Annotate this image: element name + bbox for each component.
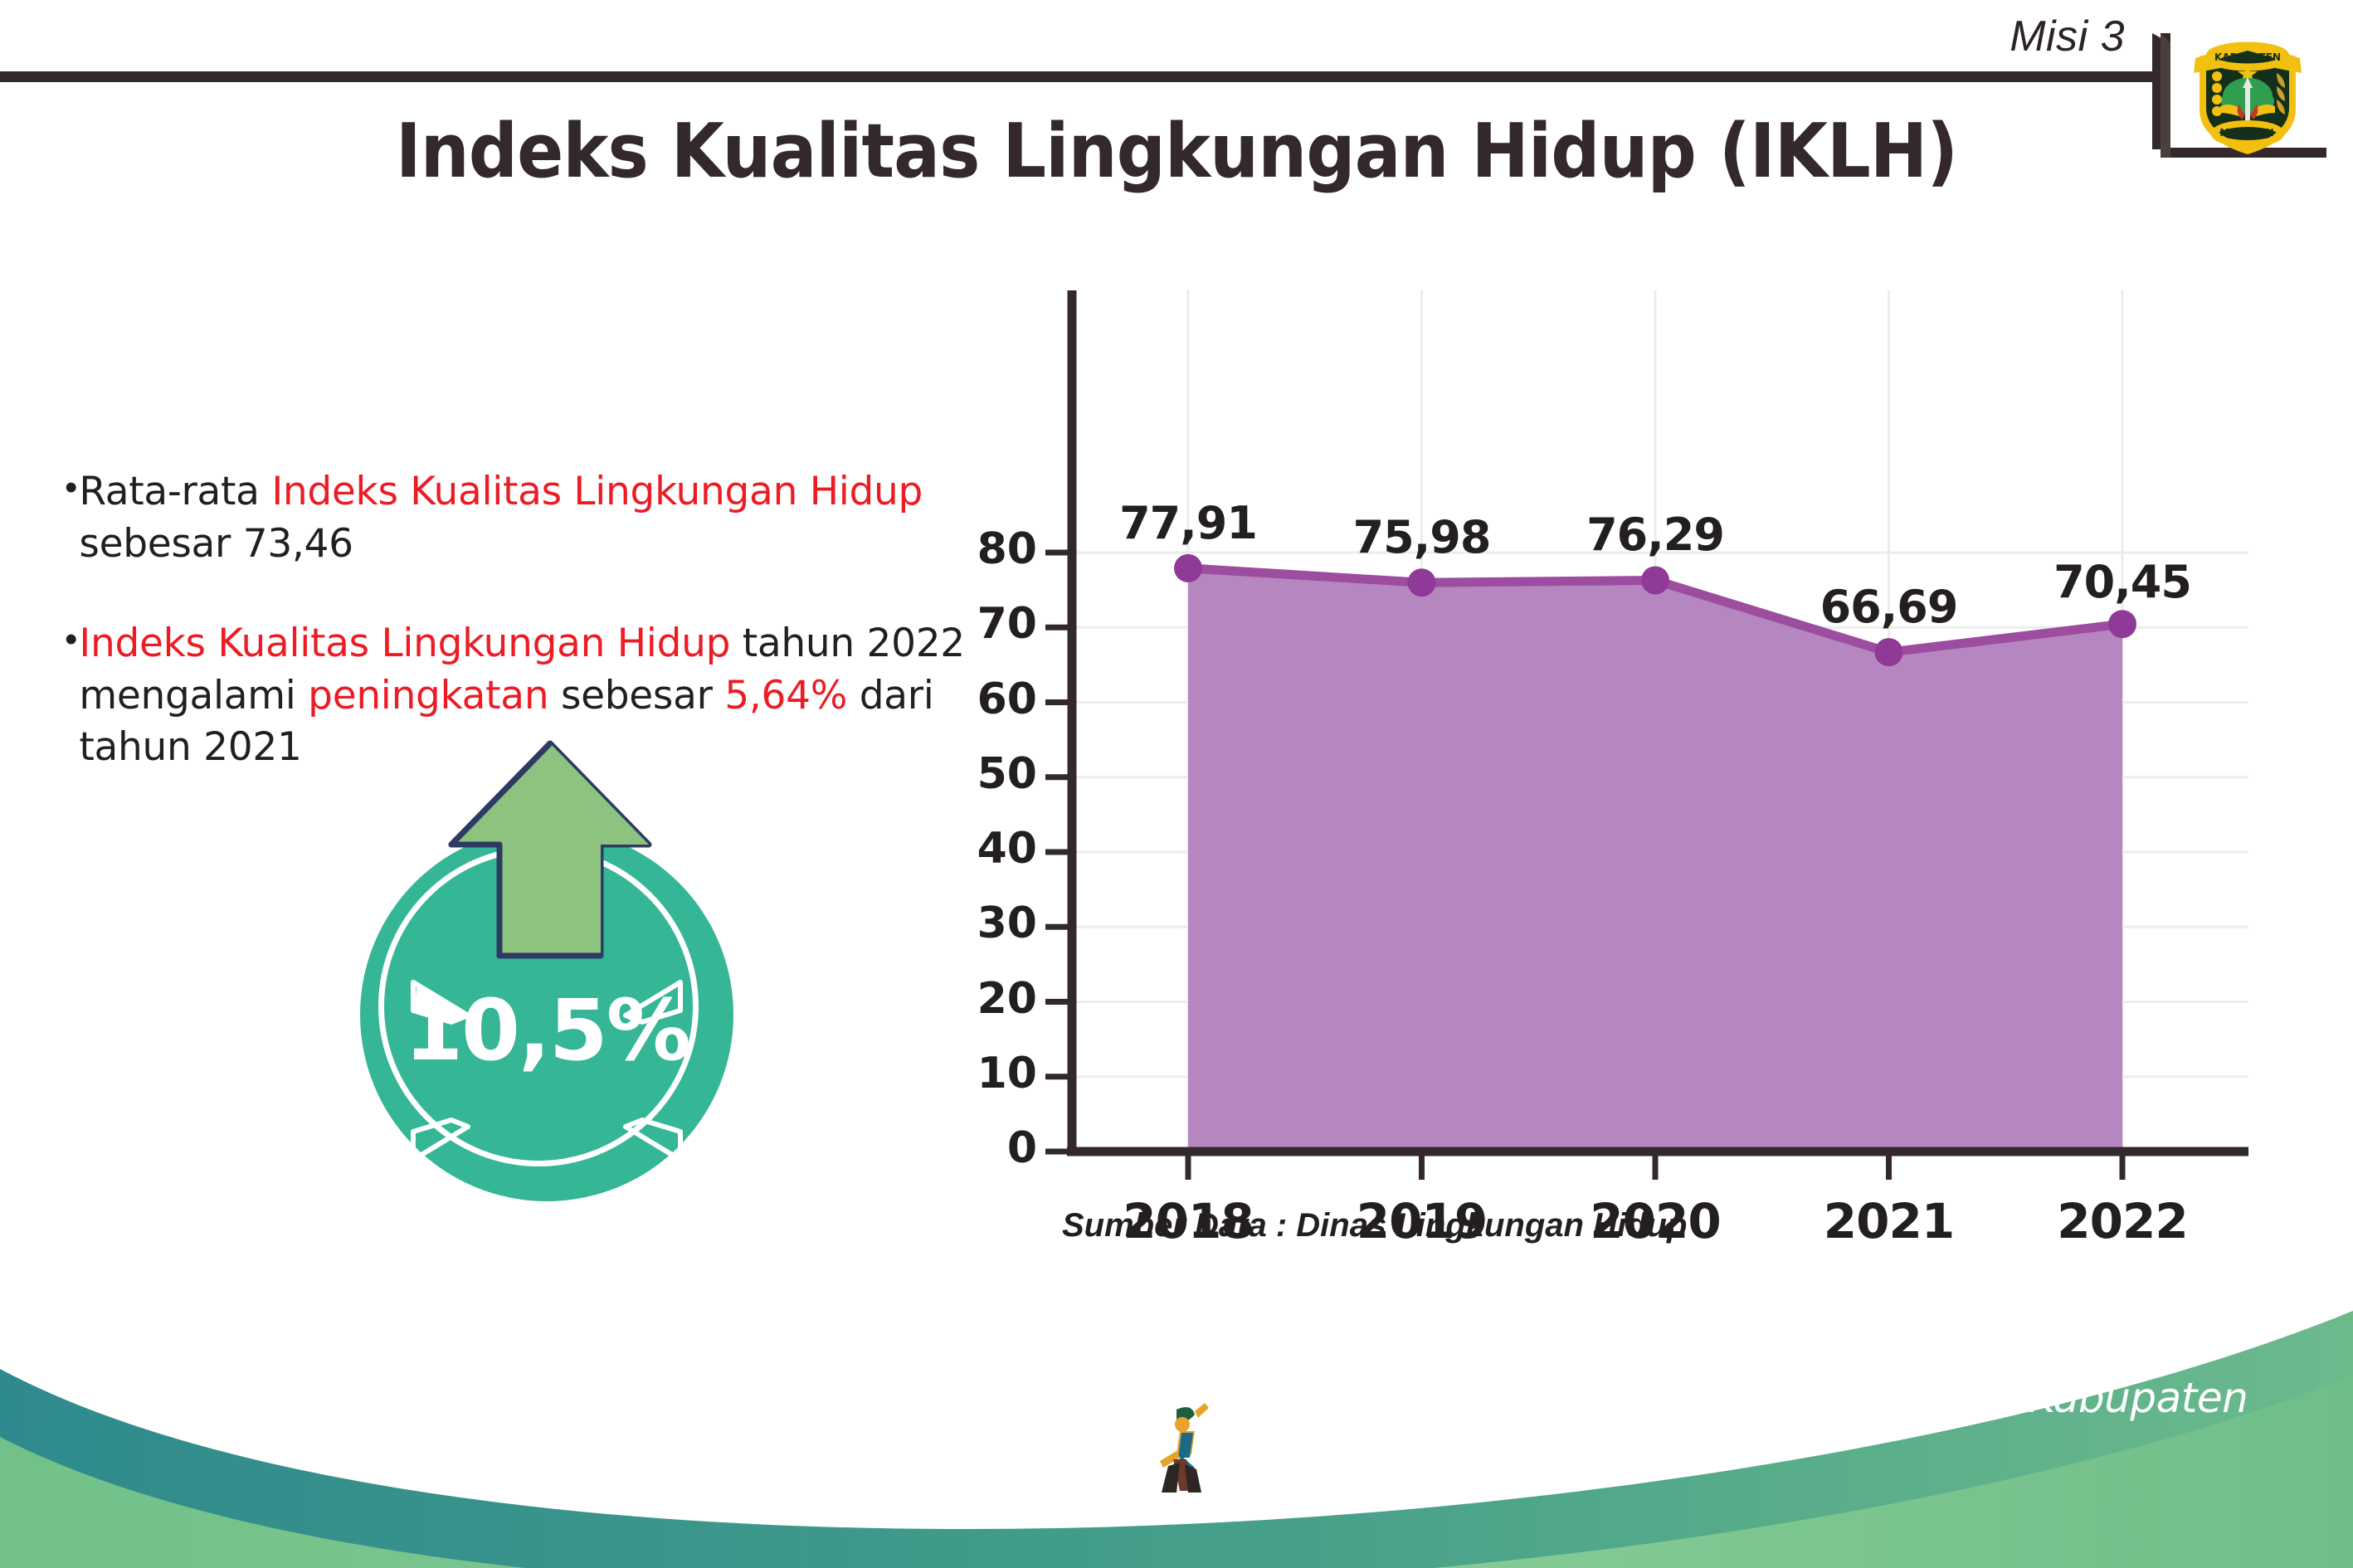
data-point-label: 75,98	[1314, 511, 1530, 563]
bullet-1-seg-1: Indeks Kualitas Lingkungan Hidup	[271, 469, 923, 514]
data-point-label: 66,69	[1781, 581, 1997, 633]
chart-source: Sumber Data : Dinas Lingkungan Hidup	[1062, 1207, 1687, 1244]
crest-top-label: KABUPATEN	[2214, 51, 2281, 63]
misi-label: Misi 3	[2010, 12, 2125, 61]
chart-canvas	[946, 274, 2290, 1186]
area-fill	[1188, 568, 2122, 1152]
y-axis-tick-label: 0	[938, 1123, 1037, 1173]
y-axis-tick-label: 20	[938, 974, 1037, 1024]
y-axis-tick-label: 10	[938, 1049, 1037, 1098]
bullet-item-1: • Rata-rata Indeks Kualitas Lingkungan H…	[65, 466, 986, 570]
up-arrow-icon	[446, 738, 654, 962]
y-axis-tick-label: 70	[938, 599, 1037, 649]
data-point-label: 70,45	[2014, 556, 2230, 608]
data-point-marker	[1408, 568, 1436, 597]
badge-value: 10,5%	[360, 981, 733, 1080]
data-point-marker	[2108, 610, 2136, 638]
x-axis-tick-label: 2021	[1781, 1193, 1997, 1249]
y-axis-tick-label: 40	[938, 824, 1037, 874]
bullet-marker: •	[65, 618, 77, 661]
header-rule	[0, 71, 2162, 82]
y-axis-tick-label: 80	[938, 524, 1037, 574]
data-point-label: 77,91	[1080, 497, 1296, 549]
footer-text: Media Infografis Data Statistik Sektoral…	[1220, 1374, 2353, 1470]
increase-badge: 10,5%	[324, 738, 772, 1203]
y-axis-tick-label: 30	[938, 898, 1037, 948]
data-point-marker	[1174, 554, 1202, 582]
x-axis-tick-label: 2022	[2014, 1193, 2230, 1249]
bullet-1-seg-0: Rata-rata	[79, 469, 271, 514]
y-axis-tick-label: 50	[938, 749, 1037, 799]
data-point-marker	[1875, 638, 1903, 666]
y-axis-tick-label: 60	[938, 674, 1037, 724]
page-title: Indeks Kualitas Lingkungan Hidup (IKLH)	[94, 108, 2258, 195]
bullet-2-seg-2: peningkatan	[308, 673, 548, 718]
bullet-1-seg-2: sebesar 73,46	[79, 521, 353, 567]
statistics-figure-logo-icon	[1143, 1400, 1222, 1495]
bullet-marker: •	[65, 466, 77, 509]
bullet-2-seg-4: 5,64%	[724, 673, 847, 718]
data-point-label: 76,29	[1547, 509, 1763, 561]
bullet-2-seg-3: sebesar	[548, 673, 724, 718]
bullet-2-seg-0: Indeks Kualitas Lingkungan Hidup	[79, 621, 730, 666]
iklh-area-chart: 01020304050607080 20182019202020212022 7…	[946, 274, 2290, 1186]
data-point-marker	[1641, 566, 1669, 594]
bullet-text-1: Rata-rata Indeks Kualitas Lingkungan Hid…	[79, 466, 986, 570]
